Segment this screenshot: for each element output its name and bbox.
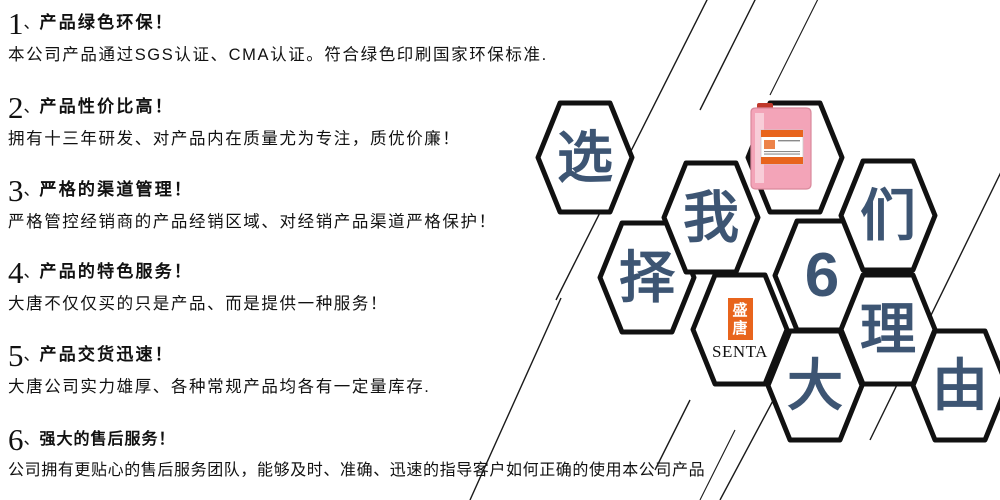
reason-number: 5 — [8, 338, 24, 373]
brand-name-latin: SENTA — [712, 342, 768, 362]
reason-heading: 1、产品绿色环保！ — [8, 8, 668, 39]
hex-label-xuan: 选 — [535, 100, 635, 215]
product-container-icon — [745, 100, 845, 215]
honeycomb-graphic: 选 择 我 — [500, 80, 1000, 425]
reason-number: 2 — [8, 90, 24, 125]
reason-separator: 、 — [24, 99, 40, 116]
reason-separator: 、 — [24, 182, 40, 199]
reason-title: 严格的渠道管理！ — [40, 180, 194, 199]
reason-title: 强大的售后服务！ — [40, 431, 176, 448]
reason-body: 公司拥有更贴心的售后服务团队，能够及时、准确、迅速的指导客户如何正确的使用本公司… — [8, 462, 668, 480]
hex-cell-you: 由 — [910, 328, 1000, 443]
reason-separator: 、 — [24, 347, 40, 364]
hex-cell-xuan: 选 — [535, 100, 635, 215]
reason-body: 本公司产品通过SGS认证、CMA认证。符合绿色印刷国家环保标准. — [8, 46, 668, 65]
reason-title: 产品性价比高！ — [40, 97, 174, 116]
reason-separator: 、 — [24, 264, 40, 281]
reason-number: 6 — [8, 422, 24, 457]
jerrycan-icon — [745, 100, 817, 192]
brand-mark-icon: 盛 唐 — [728, 298, 753, 340]
reason-title: 产品的特色服务！ — [40, 262, 194, 281]
hex-label-men: 们 — [838, 158, 938, 273]
brand-mark-char-bottom: 唐 — [732, 319, 747, 337]
reason-number: 1 — [8, 6, 24, 41]
reason-item-1: 1、产品绿色环保！ 本公司产品通过SGS认证、CMA认证。符合绿色印刷国家环保标… — [8, 8, 668, 65]
hex-cell-men: 们 — [838, 158, 938, 273]
promo-banner: 1、产品绿色环保！ 本公司产品通过SGS认证、CMA认证。符合绿色印刷国家环保标… — [0, 0, 1000, 500]
hex-cell-product — [745, 100, 845, 215]
reason-title: 产品绿色环保！ — [40, 13, 174, 32]
reason-item-6: 6、强大的售后服务！ 公司拥有更贴心的售后服务团队，能够及时、准确、迅速的指导客… — [8, 424, 668, 480]
reason-separator: 、 — [24, 15, 40, 32]
brand-mark-char-top: 盛 — [732, 301, 747, 319]
reason-separator: 、 — [24, 431, 40, 448]
reason-number: 3 — [8, 173, 24, 208]
hex-label-you: 由 — [910, 328, 1000, 443]
reason-title: 产品交货迅速！ — [40, 345, 174, 364]
reason-number: 4 — [8, 255, 24, 290]
reason-heading: 6、强大的售后服务！ — [8, 424, 668, 455]
